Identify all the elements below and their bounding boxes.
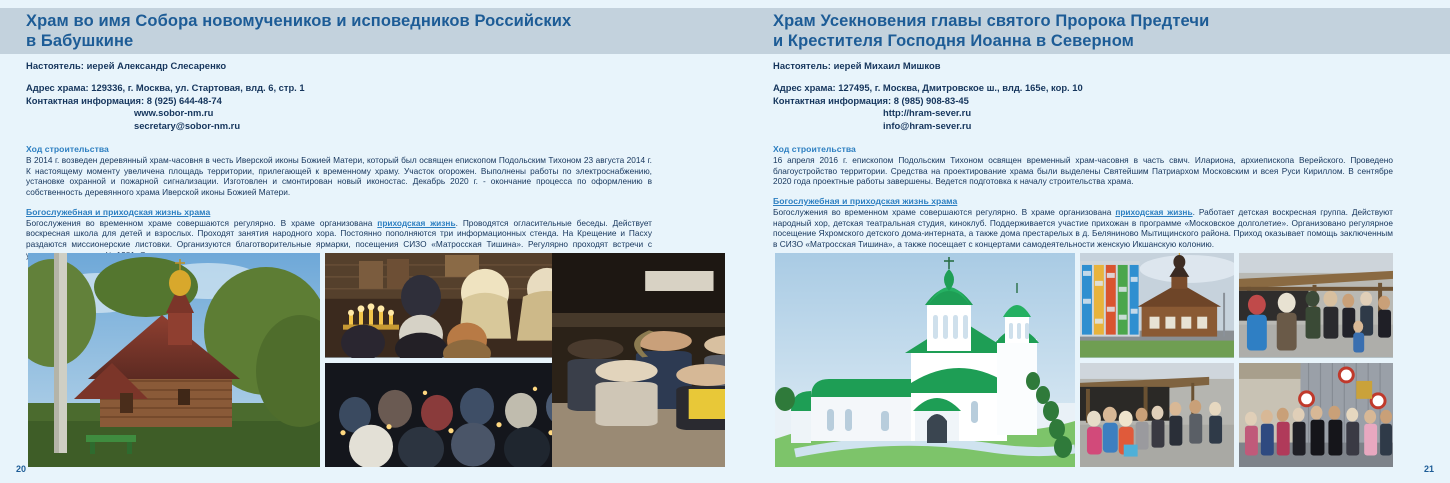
right-parish-highlight[interactable]: приходская жизнь xyxy=(1115,207,1192,217)
right-parish-text-part1: Богослужения во временном храме совершаю… xyxy=(773,207,1115,217)
photo-parish-group-outside xyxy=(552,253,725,467)
right-photo-grid xyxy=(775,253,1393,467)
right-contact-block: Адрес храма: 127495, г. Москва, Дмитровс… xyxy=(773,82,1393,132)
right-rector-line: Настоятель: иерей Михаил Мишков xyxy=(773,60,1393,71)
left-page: Храм во имя Собора новомучеников и испов… xyxy=(0,0,725,483)
right-parish-heading: Богослужебная и приходская жизнь храма xyxy=(773,196,1393,206)
right-address-line: Адрес храма: 127495, г. Москва, Дмитровс… xyxy=(773,82,1393,95)
left-address-line: Адрес храма: 129336, г. Москва, ул. Стар… xyxy=(26,82,652,95)
left-phone-line: Контактная информация: 8 (925) 644-48-74 xyxy=(26,95,652,108)
left-construction-text: В 2014 г. возведен деревянный храм-часов… xyxy=(26,155,652,198)
left-page-title-line1: Храм во имя Собора новомучеников и испов… xyxy=(26,11,571,31)
photo-wooden-church-exterior xyxy=(28,253,320,467)
left-page-number: 20 xyxy=(16,464,26,474)
right-email-link[interactable]: info@hram-sever.ru xyxy=(773,120,1393,133)
left-construction-heading: Ход строительства xyxy=(26,144,652,154)
photo-children-event-outdoor xyxy=(1080,363,1234,468)
right-construction-heading: Ход строительства xyxy=(773,144,1393,154)
left-photo-group-column xyxy=(552,253,646,467)
right-construction-text: 16 апреля 2016 г. епископом Подольским Т… xyxy=(773,155,1393,187)
left-parish-highlight[interactable]: приходская жизнь xyxy=(377,218,455,228)
left-page-body: Настоятель: иерей Александр Слесаренко А… xyxy=(26,60,652,269)
left-page-title-line2: в Бабушкине xyxy=(26,31,571,51)
left-page-header-band: Храм во имя Собора новомучеников и испов… xyxy=(0,8,725,54)
right-page-body: Настоятель: иерей Михаил Мишков Адрес хр… xyxy=(773,60,1393,259)
right-parish-text: Богослужения во временном храме совершаю… xyxy=(773,207,1393,250)
right-page-header-band: Храм Усекновения главы святого Пророка П… xyxy=(725,8,1450,54)
photo-parish-gathering-winter xyxy=(1239,253,1393,358)
left-parish-heading: Богослужебная и приходская жизнь храма xyxy=(26,207,652,217)
left-rector-line: Настоятель: иерей Александр Слесаренко xyxy=(26,60,652,71)
right-page-title-line1: Храм Усекновения главы святого Пророка П… xyxy=(773,11,1209,31)
photo-temporary-wooden-church xyxy=(1080,253,1234,358)
right-website-link[interactable]: http://hram-sever.ru xyxy=(773,107,1393,120)
right-page-number: 21 xyxy=(1424,464,1434,474)
right-page: Храм Усекновения главы святого Пророка П… xyxy=(725,0,1450,483)
photo-clergy-group-photo xyxy=(1239,363,1393,468)
left-website-link[interactable]: www.sobor-nm.ru xyxy=(26,107,652,120)
left-contact-block: Адрес храма: 129336, г. Москва, ул. Стар… xyxy=(26,82,652,132)
right-phone-line: Контактная информация: 8 (985) 908-83-45 xyxy=(773,95,1393,108)
right-page-title: Храм Усекновения главы святого Пророка П… xyxy=(725,11,1223,52)
left-parish-text-part1: Богослужения во временном храме совершаю… xyxy=(26,218,377,228)
photo-church-3d-render xyxy=(775,253,1075,467)
left-email-link[interactable]: secretary@sobor-nm.ru xyxy=(26,120,652,133)
right-page-title-line2: и Крестителя Господня Иоанна в Северном xyxy=(773,31,1209,51)
left-page-title: Храм во имя Собора новомучеников и испов… xyxy=(0,11,585,52)
magazine-spread: Храм во имя Собора новомучеников и испов… xyxy=(0,0,1450,483)
